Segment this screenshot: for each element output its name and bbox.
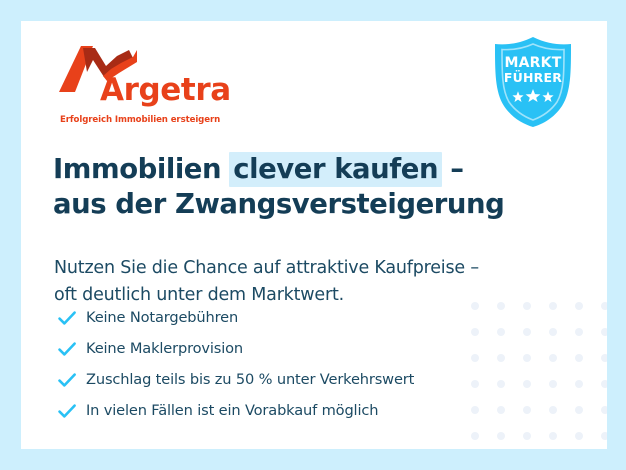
benefit-item: Keine Notargebühren xyxy=(54,302,524,333)
headline-text-before: Immobilien xyxy=(53,153,230,185)
grid-dot xyxy=(601,432,607,440)
check-icon xyxy=(54,336,80,362)
grid-dot xyxy=(575,406,583,414)
argetra-wordmark: Argetra xyxy=(100,75,231,106)
benefit-label: Keine Maklerprovision xyxy=(86,340,243,357)
headline: Immobilien clever kaufen – aus der Zwang… xyxy=(53,152,553,222)
subheadline-line-1: Nutzen Sie die Chance auf attraktive Kau… xyxy=(54,255,574,282)
grid-dot xyxy=(549,380,557,388)
grid-dot xyxy=(523,354,531,362)
benefit-label: Zuschlag teils bis zu 50 % unter Verkehr… xyxy=(86,371,414,388)
grid-dot xyxy=(523,406,531,414)
headline-highlight: clever kaufen xyxy=(229,152,442,187)
grid-dot xyxy=(471,432,479,440)
check-icon xyxy=(54,305,80,331)
benefit-item: In vielen Fällen ist ein Vorabkauf mögli… xyxy=(54,395,524,426)
grid-dot xyxy=(549,328,557,336)
shield-badge-icon xyxy=(492,115,574,132)
ad-frame: Argetra Erfolgreich Immobilien ersteiger… xyxy=(0,0,626,470)
grid-dot xyxy=(601,354,607,362)
ad-card: Argetra Erfolgreich Immobilien ersteiger… xyxy=(21,21,607,449)
check-icon xyxy=(54,367,80,393)
benefit-item: Keine Maklerprovision xyxy=(54,333,524,364)
headline-line-1: Immobilien clever kaufen – xyxy=(53,152,553,187)
grid-dot xyxy=(523,432,531,440)
grid-dot xyxy=(523,328,531,336)
check-icon xyxy=(54,398,80,424)
headline-text-after: – xyxy=(441,153,463,185)
benefits-list: Keine NotargebührenKeine Maklerprovision… xyxy=(54,302,524,426)
grid-dot xyxy=(523,380,531,388)
grid-dot xyxy=(601,380,607,388)
grid-dot xyxy=(575,328,583,336)
market-leader-badge: MARKT FÜHRER xyxy=(492,36,574,128)
benefit-label: Keine Notargebühren xyxy=(86,309,238,326)
grid-dot xyxy=(575,432,583,440)
grid-dot xyxy=(497,432,505,440)
grid-dot xyxy=(575,354,583,362)
grid-dot xyxy=(549,432,557,440)
benefit-item: Zuschlag teils bis zu 50 % unter Verkehr… xyxy=(54,364,524,395)
grid-dot xyxy=(549,354,557,362)
benefit-label: In vielen Fällen ist ein Vorabkauf mögli… xyxy=(86,402,378,419)
grid-dot xyxy=(601,302,607,310)
grid-dot xyxy=(575,380,583,388)
argetra-tagline: Erfolgreich Immobilien ersteigern xyxy=(60,115,220,125)
grid-dot xyxy=(575,302,583,310)
headline-line-2: aus der Zwangsversteigerung xyxy=(53,187,553,222)
subheadline: Nutzen Sie die Chance auf attraktive Kau… xyxy=(54,255,574,309)
grid-dot xyxy=(601,406,607,414)
grid-dot xyxy=(549,406,557,414)
argetra-logo[interactable]: Argetra Erfolgreich Immobilien ersteiger… xyxy=(59,46,239,126)
grid-dot xyxy=(601,328,607,336)
